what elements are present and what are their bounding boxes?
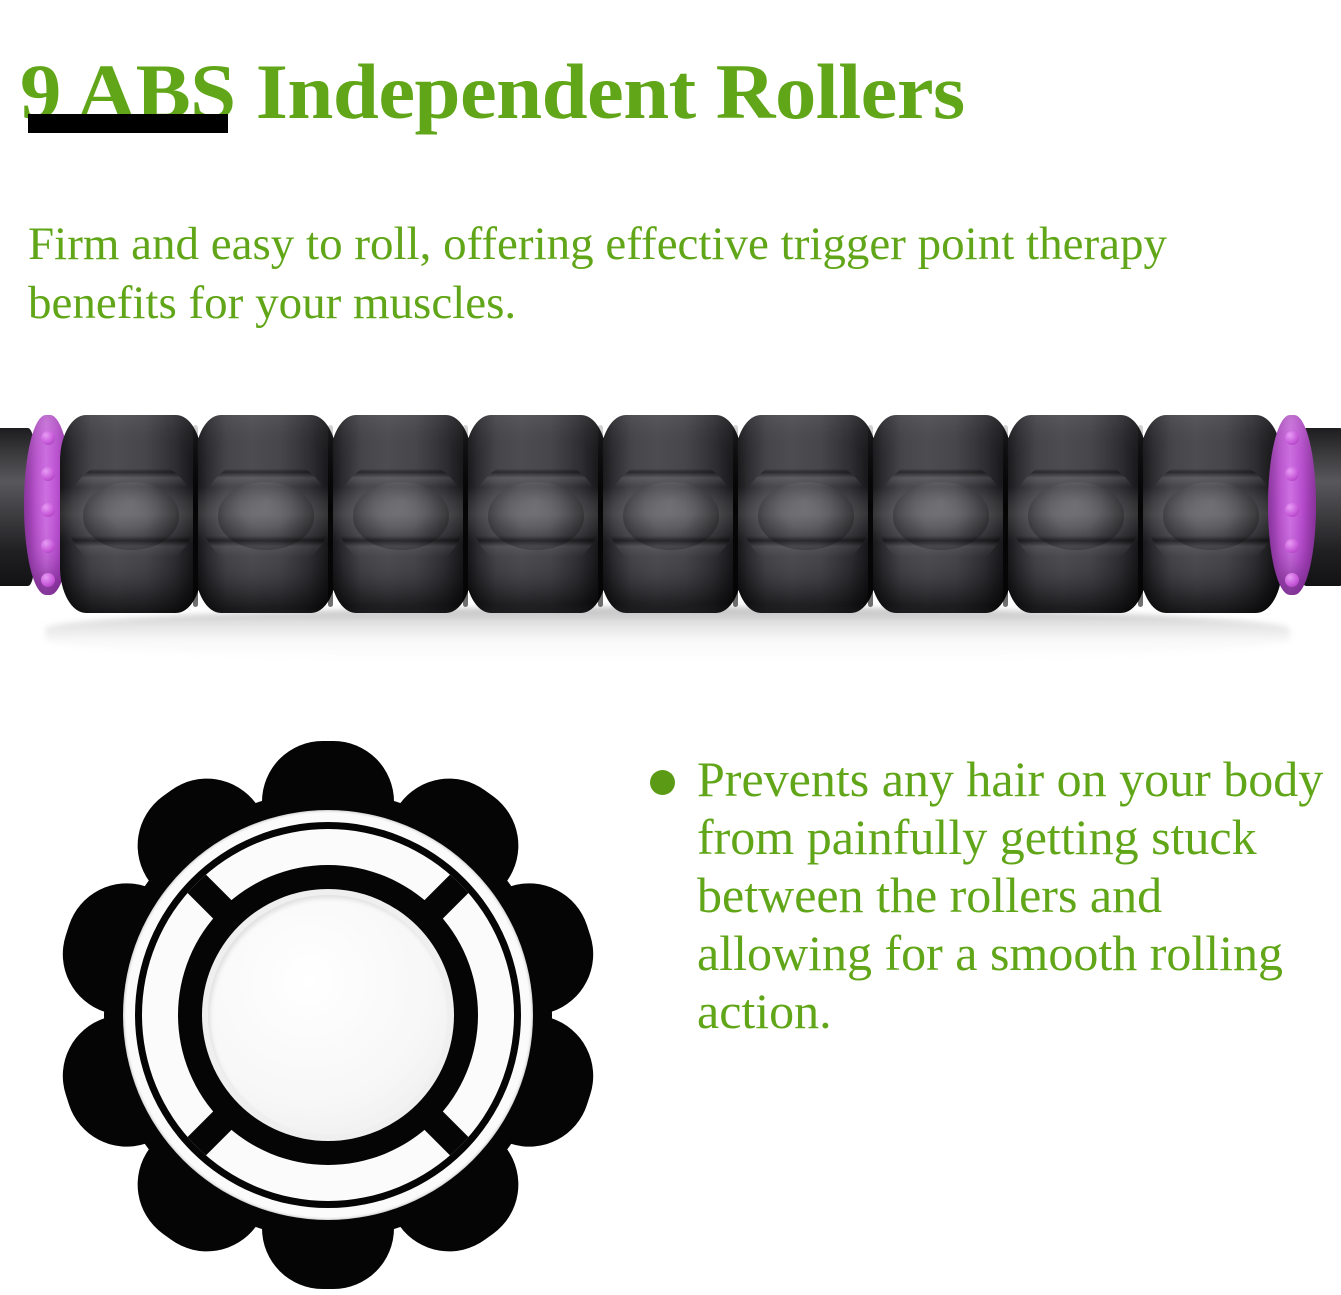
roller-segment (195, 415, 337, 613)
roller-segment (60, 415, 202, 613)
ring-stud (1285, 503, 1299, 517)
roller-seam (598, 425, 603, 607)
roller-seam (193, 425, 198, 607)
roller-seam (463, 425, 468, 607)
roller-seam (1003, 425, 1008, 607)
ring-stud (41, 539, 55, 553)
roller-seam (1138, 425, 1143, 607)
ring-stud (41, 503, 55, 517)
ring-stud (1285, 539, 1299, 553)
ring-stud (1285, 467, 1299, 481)
roller-wheel-detail-image (52, 735, 604, 1295)
gear-center-disc (208, 895, 448, 1135)
roller-segment (465, 415, 607, 613)
roller-segment (1005, 415, 1147, 613)
ring-stud (41, 431, 55, 445)
roller-segment (735, 415, 877, 613)
bullet-dot-icon (650, 770, 675, 795)
roller-seam (868, 425, 873, 607)
ring-stud (41, 467, 55, 481)
roller-segment (330, 415, 472, 613)
page-subtitle: Firm and easy to roll, offering effectiv… (28, 215, 1298, 333)
benefit-list-item: Prevents any hair on your body from pain… (650, 750, 1341, 1040)
ring-stud (1285, 431, 1299, 445)
roller-seam (328, 425, 333, 607)
roller-reflection (45, 607, 1290, 661)
ring-stud (1285, 573, 1299, 587)
roller-segment-group (60, 415, 1284, 615)
purple-end-ring-right (1268, 415, 1316, 595)
roller-segment (1140, 415, 1282, 613)
ring-stud (41, 573, 55, 587)
roller-segment (870, 415, 1012, 613)
title-accent-bar (28, 114, 228, 133)
roller-seam (733, 425, 738, 607)
benefit-text: Prevents any hair on your body from pain… (697, 750, 1341, 1040)
massage-roller-product-image (0, 395, 1341, 665)
roller-segment (600, 415, 742, 613)
